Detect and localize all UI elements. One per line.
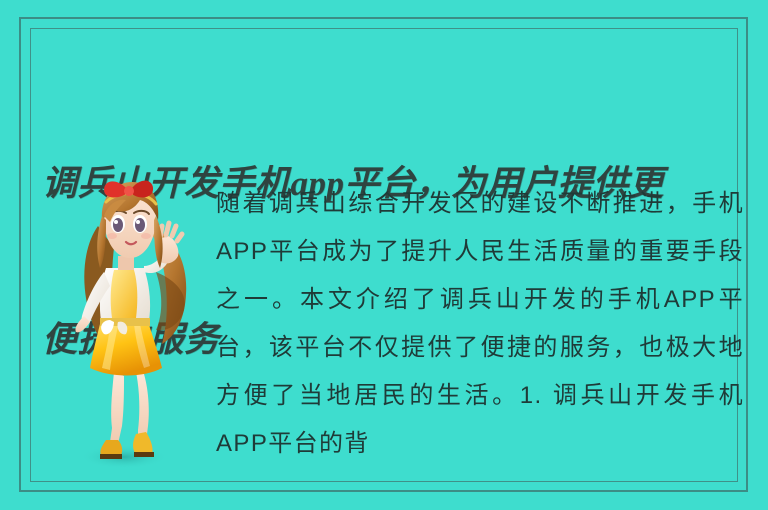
article-body-text: 随着调兵山综合开发区的建设不断推进，手机APP平台成为了提升人民生活质量的重要手…	[216, 180, 744, 470]
chibi-girl-illustration	[52, 176, 222, 476]
poster-canvas: 调兵山开发手机app平台，为用户提供更 便捷的服务	[0, 0, 768, 510]
